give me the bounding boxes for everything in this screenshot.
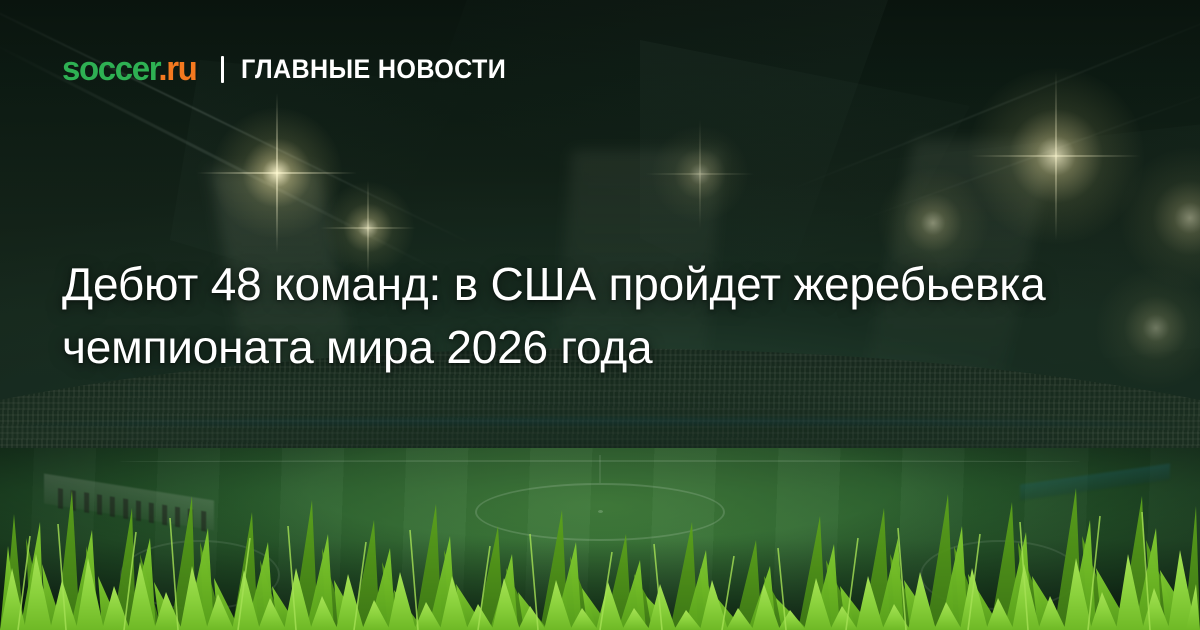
floodlight-glow: [652, 126, 748, 222]
penalty-arc: [120, 540, 280, 610]
brand-divider: [221, 56, 224, 83]
penalty-arc: [920, 540, 1080, 610]
site-branding[interactable]: soccer.ru ГЛАВНЫЕ НОВОСТИ: [62, 52, 526, 86]
halfway-line: [599, 455, 601, 483]
floodlight-glow: [968, 68, 1144, 244]
centre-spot: [598, 510, 603, 513]
logo-word-ru: .ru: [158, 50, 196, 88]
logo-word-soccer: soccer: [62, 50, 158, 88]
soccer-ru-logo[interactable]: soccer.ru: [62, 52, 196, 86]
section-kicker: ГЛАВНЫЕ НОВОСТИ: [241, 56, 506, 83]
article-headline: Дебют 48 команд: в США пройдет жеребьевк…: [62, 253, 1072, 379]
social-share-card: soccer.ru ГЛАВНЫЕ НОВОСТИ Дебют 48 коман…: [0, 0, 1200, 630]
